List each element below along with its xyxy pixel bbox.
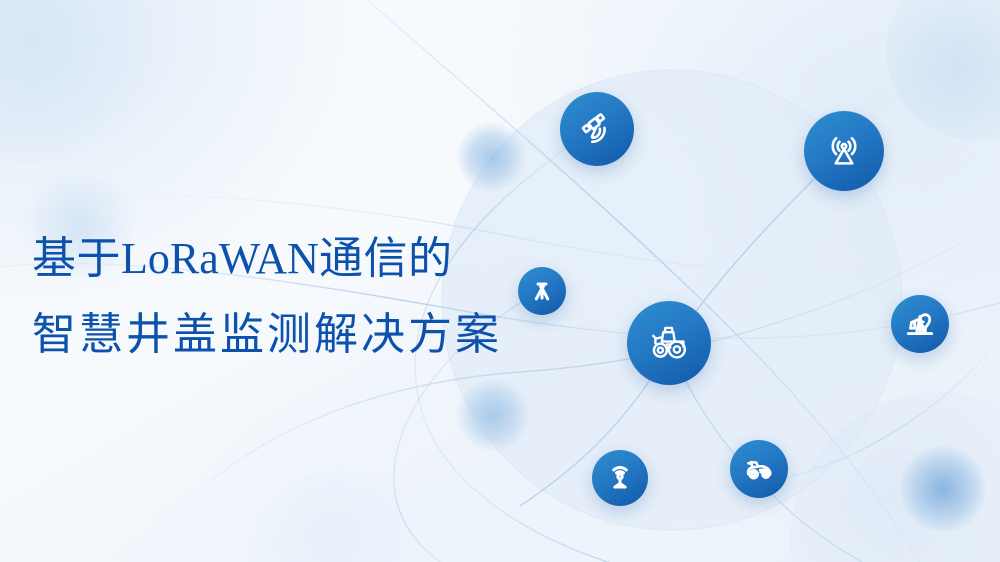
tractor-icon [646,320,692,366]
radio-tower-icon [822,129,866,173]
slide-canvas: 基于LoRaWAN通信的 智慧井盖监测解决方案 [0,0,1000,562]
node-oil-pump[interactable] [891,295,949,353]
title-line-1-prefix: 基于 [32,234,121,283]
node-sensor[interactable] [592,450,648,506]
title-line-1-latin: LoRaWAN [121,234,319,283]
robot-mower-icon [742,452,776,486]
title-line-1-suffix: 通信的 [319,234,453,283]
title-block: 基于LoRaWAN通信的 智慧井盖监测解决方案 [32,228,572,367]
node-tractor[interactable] [627,301,711,385]
node-antenna[interactable] [804,111,884,191]
title-line-2: 智慧井盖监测解决方案 [32,304,572,366]
satellite-dish-icon [577,109,617,149]
node-satellite[interactable] [560,92,634,166]
title-line-1: 基于LoRaWAN通信的 [32,228,572,290]
wireless-sensor-icon [604,462,636,494]
oil-pumpjack-icon [903,307,937,341]
node-robot-vehicle[interactable] [730,440,788,498]
